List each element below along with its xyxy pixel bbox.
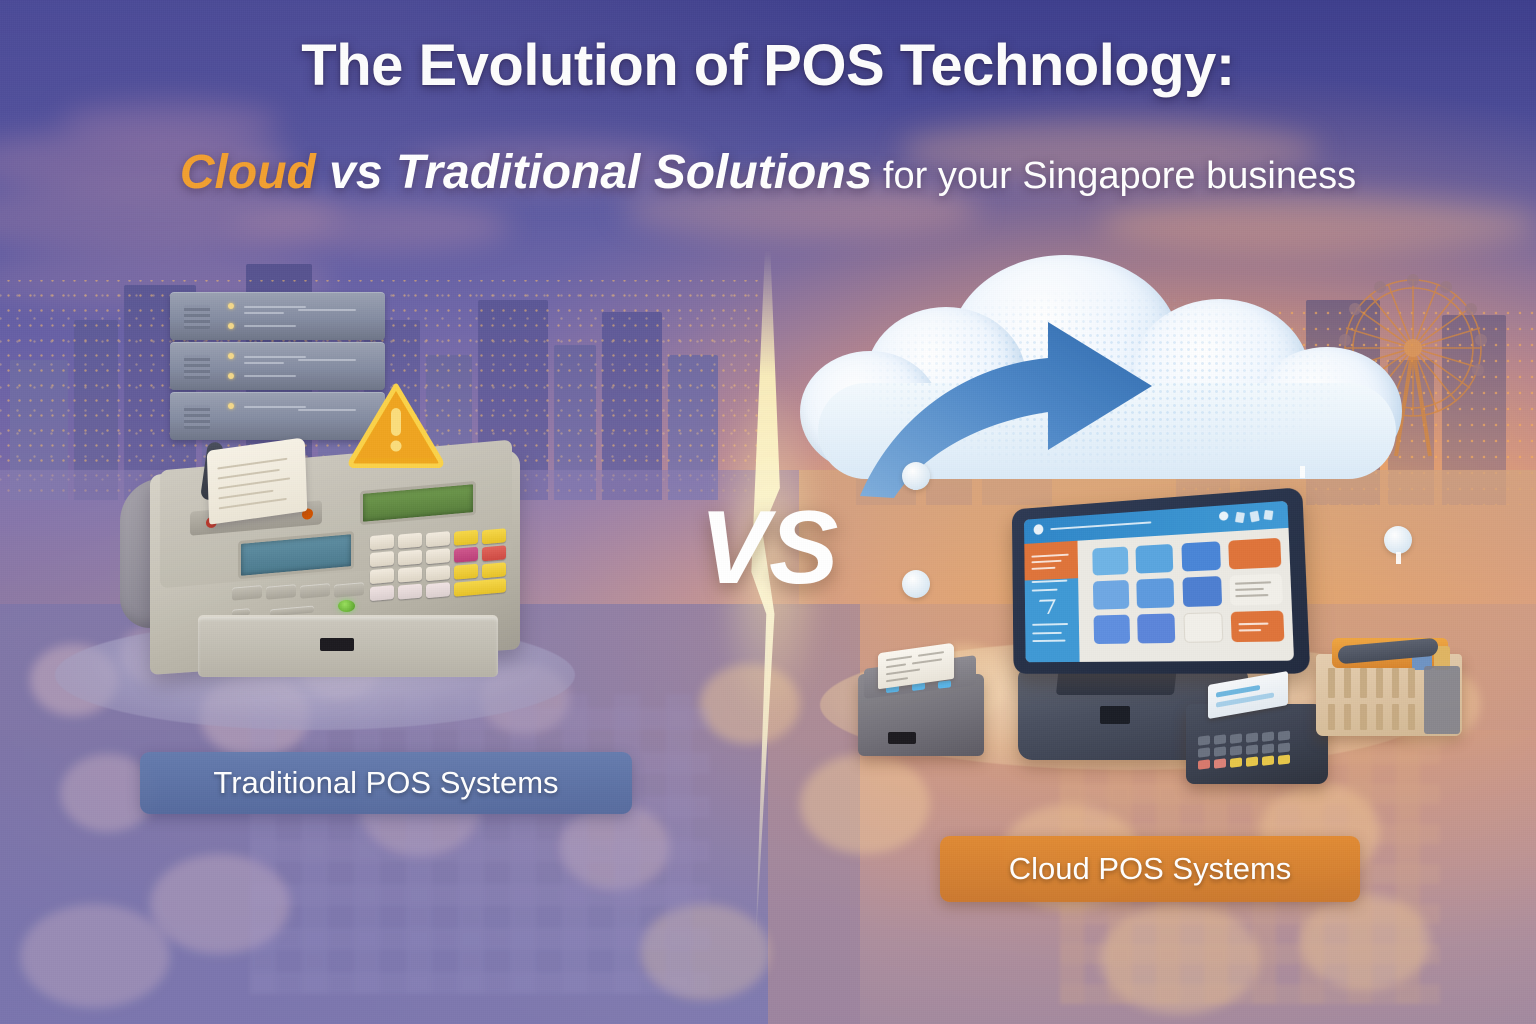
register-keypad (370, 524, 510, 606)
pos-tile[interactable] (1181, 541, 1221, 572)
pos-tile-accent[interactable] (1228, 537, 1281, 569)
subtitle-highlight: Cloud (180, 146, 316, 199)
pos-screen-header (1024, 501, 1288, 544)
pos-tile[interactable] (1094, 615, 1131, 644)
cash-drawer-slot (320, 638, 354, 651)
pos-tile[interactable] (1137, 578, 1175, 608)
connection-node-left (902, 462, 930, 490)
pos-screen[interactable] (1024, 501, 1294, 663)
pos-tile[interactable] (1182, 576, 1222, 607)
receipt-paper (207, 437, 308, 524)
pos-tile[interactable] (1093, 580, 1129, 609)
page-title: The Evolution of POS Technology: (0, 32, 1536, 99)
pos-tile[interactable] (1138, 614, 1176, 644)
connection-node-left-lower (902, 570, 930, 598)
pos-tile[interactable] (1092, 546, 1128, 576)
badge-cloud-pos: Cloud POS Systems (940, 836, 1360, 902)
pos-tile[interactable] (1136, 544, 1174, 574)
pos-pay-button[interactable] (1231, 611, 1285, 642)
receipt-printer (858, 648, 988, 758)
pos-stand-slot (1100, 706, 1130, 724)
pos-tablet[interactable] (1000, 498, 1300, 673)
warning-triangle-icon (348, 382, 444, 468)
connection-node-right (1384, 526, 1412, 554)
pos-tile-empty[interactable] (1183, 612, 1223, 642)
page-subtitle: Cloud vs Traditional Solutions for your … (0, 145, 1536, 200)
shopping-basket (1316, 628, 1466, 753)
poster-canvas: VS The Evolution of POS Technology: Clou… (0, 0, 1536, 1024)
cash-register (120, 430, 530, 690)
badge-traditional-pos: Traditional POS Systems (140, 752, 632, 814)
pos-screen-accent-tile[interactable] (1024, 540, 1078, 580)
pos-receipt-panel (1229, 574, 1282, 606)
subtitle-tail: for your Singapore business (872, 155, 1356, 197)
register-status-led (338, 600, 355, 612)
vs-label: VS (664, 496, 874, 600)
card-payment-terminal (1186, 678, 1336, 788)
subtitle-main: vs Traditional Solutions (316, 146, 873, 199)
